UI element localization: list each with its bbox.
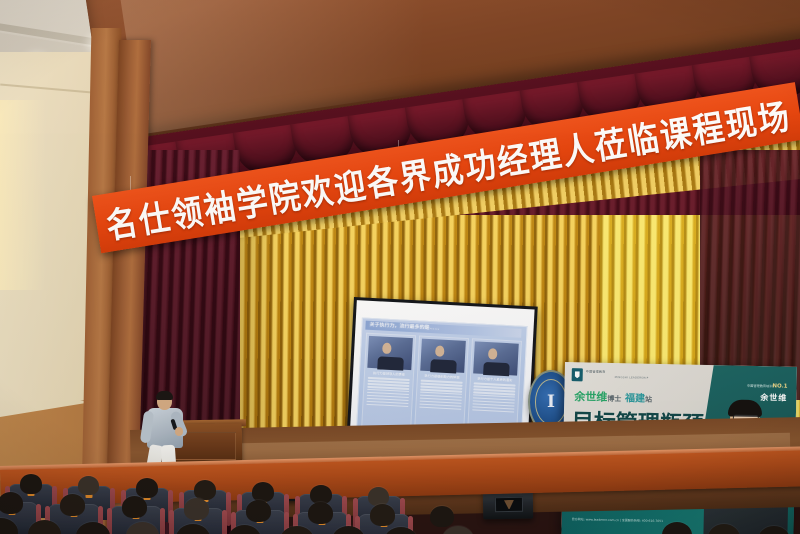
audience-head [20, 474, 42, 494]
audience-head [430, 506, 454, 527]
emblem-letter: I [547, 392, 555, 412]
poster-speaker-line-station: 站 [645, 396, 652, 404]
audience-head [758, 526, 790, 534]
slide-panel-text-lines [469, 381, 519, 414]
audience-head [136, 478, 158, 498]
wall-light-glow [0, 100, 46, 290]
audience-head [246, 500, 271, 522]
emblem-ring: I [535, 379, 567, 424]
poster-brand-mark-label: 中国管理教育 [586, 369, 606, 373]
audience-head [442, 526, 474, 534]
slide-panel: 执行力是组织能力的体现 [414, 335, 469, 435]
audience-area [0, 468, 800, 534]
poster-speaker-line-city: 福建 [625, 393, 645, 404]
slide-panel-text-lines [363, 376, 413, 409]
audience-head [0, 492, 23, 514]
slide-panel-photo [420, 339, 466, 373]
slide-panel-photo [367, 336, 413, 370]
audience-head [78, 476, 99, 495]
poster-brand-mark-sub: MINGSHI LEADERSHIP [615, 376, 649, 380]
poster-brand-logo-icon [572, 368, 583, 381]
slide-panel-photo [473, 341, 519, 375]
poster-speaker-line-name: 余世维 [574, 390, 607, 404]
audience-head [708, 524, 740, 534]
slide-panel: 执行力是领导人的责任 [361, 333, 416, 433]
audience-head [308, 502, 333, 524]
auditorium-photo: 名仕领袖学院欢迎各界成功经理人莅临课程现场 关于执行力，流行最多的是…… 执行力… [0, 0, 800, 534]
audience-head [662, 522, 692, 534]
audience-head [194, 480, 216, 500]
audience-head [60, 494, 85, 516]
right-red-drape [700, 150, 800, 400]
audience-head [252, 482, 274, 502]
poster-speaker-line-degree: 博士 [607, 395, 621, 403]
audience-head [370, 504, 395, 526]
audience-head [184, 498, 209, 520]
slide-panel-text-lines [416, 379, 466, 412]
audience-head [368, 487, 389, 506]
poster-speaker-line: 余世维博士 福建站 [574, 388, 652, 406]
audience-head [122, 496, 147, 518]
